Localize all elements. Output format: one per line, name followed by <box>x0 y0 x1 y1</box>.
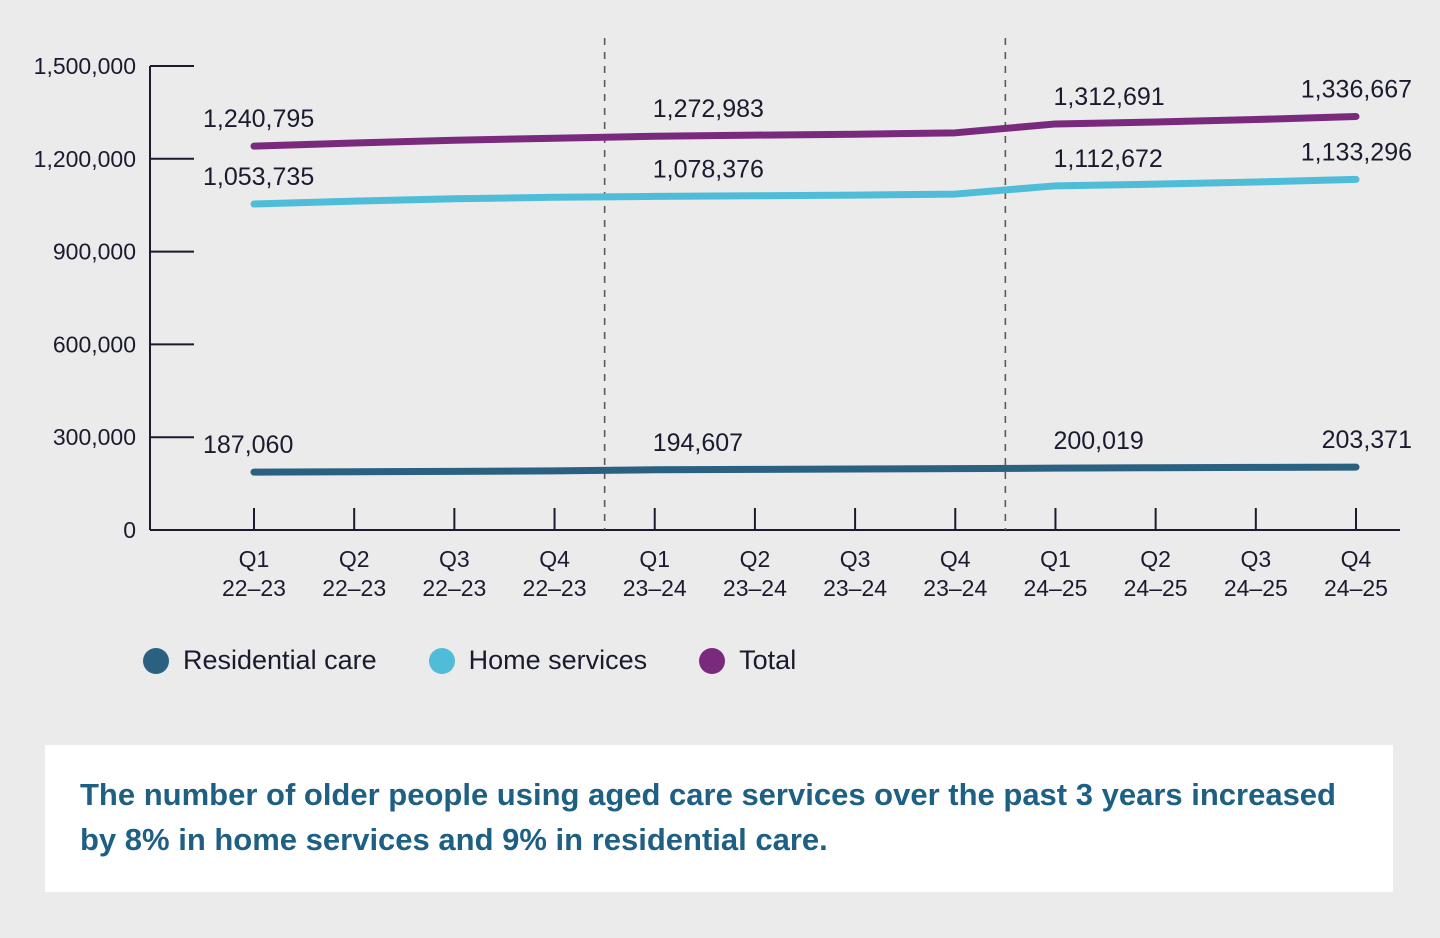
point-value-label: 1,312,691 <box>1053 83 1164 111</box>
point-value-label: 1,078,376 <box>653 155 764 183</box>
point-value-label: 187,060 <box>203 431 293 459</box>
series-line-residential-care <box>254 467 1356 472</box>
series-line-home-services <box>254 179 1356 204</box>
x-tick-label-quarter: Q3 <box>1240 546 1271 572</box>
x-tick-label-year: 22–23 <box>523 575 587 601</box>
y-tick-label: 1,200,000 <box>34 146 136 172</box>
x-tick-label-quarter: Q1 <box>1040 546 1071 572</box>
legend-swatch-icon <box>699 648 725 674</box>
legend-item-label: Total <box>739 645 796 676</box>
point-value-label: 203,371 <box>1322 426 1412 454</box>
x-tick-label-year: 23–24 <box>923 575 987 601</box>
x-tick-label-quarter: Q3 <box>439 546 470 572</box>
caption-text: The number of older people using aged ca… <box>80 773 1370 863</box>
x-tick-label-quarter: Q1 <box>639 546 670 572</box>
line-chart-svg: 0300,000600,000900,0001,200,0001,500,000… <box>0 0 1440 740</box>
x-tick-label-quarter: Q4 <box>539 546 570 572</box>
y-tick-label: 0 <box>123 517 136 543</box>
legend-swatch-icon <box>429 648 455 674</box>
legend-item-label: Home services <box>469 645 648 676</box>
legend-item-home-services[interactable]: Home services <box>429 645 648 676</box>
chart-legend: Residential careHome servicesTotal <box>143 645 848 676</box>
y-tick-label: 300,000 <box>53 424 136 450</box>
x-tick-label-quarter: Q2 <box>1140 546 1171 572</box>
legend-item-label: Residential care <box>183 645 377 676</box>
x-tick-label-year: 22–23 <box>322 575 386 601</box>
x-tick-label-quarter: Q1 <box>239 546 270 572</box>
x-tick-label-year: 24–25 <box>1023 575 1087 601</box>
y-tick-label: 600,000 <box>53 331 136 357</box>
x-tick-label-quarter: Q4 <box>1341 546 1372 572</box>
x-tick-label-quarter: Q4 <box>940 546 971 572</box>
x-tick-label-year: 24–25 <box>1324 575 1388 601</box>
point-value-label: 1,133,296 <box>1301 138 1412 166</box>
x-tick-label-year: 23–24 <box>823 575 887 601</box>
x-tick-label-quarter: Q2 <box>740 546 771 572</box>
point-value-label: 1,336,667 <box>1301 76 1412 104</box>
chart-figure: 0300,000600,000900,0001,200,0001,500,000… <box>0 0 1440 740</box>
point-value-label: 1,272,983 <box>653 95 764 123</box>
point-value-label: 1,112,672 <box>1053 145 1162 173</box>
series-line-total <box>254 117 1356 147</box>
x-tick-label-year: 22–23 <box>422 575 486 601</box>
x-tick-label-year: 24–25 <box>1224 575 1288 601</box>
y-tick-label: 1,500,000 <box>34 53 136 79</box>
point-value-label: 194,607 <box>653 429 743 457</box>
y-tick-label: 900,000 <box>53 239 136 265</box>
x-tick-label-year: 23–24 <box>723 575 787 601</box>
legend-item-total[interactable]: Total <box>699 645 796 676</box>
point-value-label: 1,053,735 <box>203 163 314 191</box>
x-tick-label-year: 22–23 <box>222 575 286 601</box>
x-tick-label-quarter: Q2 <box>339 546 370 572</box>
caption-box: The number of older people using aged ca… <box>45 745 1393 892</box>
point-value-label: 200,019 <box>1053 427 1143 455</box>
x-tick-label-year: 24–25 <box>1124 575 1188 601</box>
legend-item-residential-care[interactable]: Residential care <box>143 645 377 676</box>
x-tick-label-quarter: Q3 <box>840 546 871 572</box>
legend-swatch-icon <box>143 648 169 674</box>
point-value-label: 1,240,795 <box>203 105 314 133</box>
x-tick-label-year: 23–24 <box>623 575 687 601</box>
